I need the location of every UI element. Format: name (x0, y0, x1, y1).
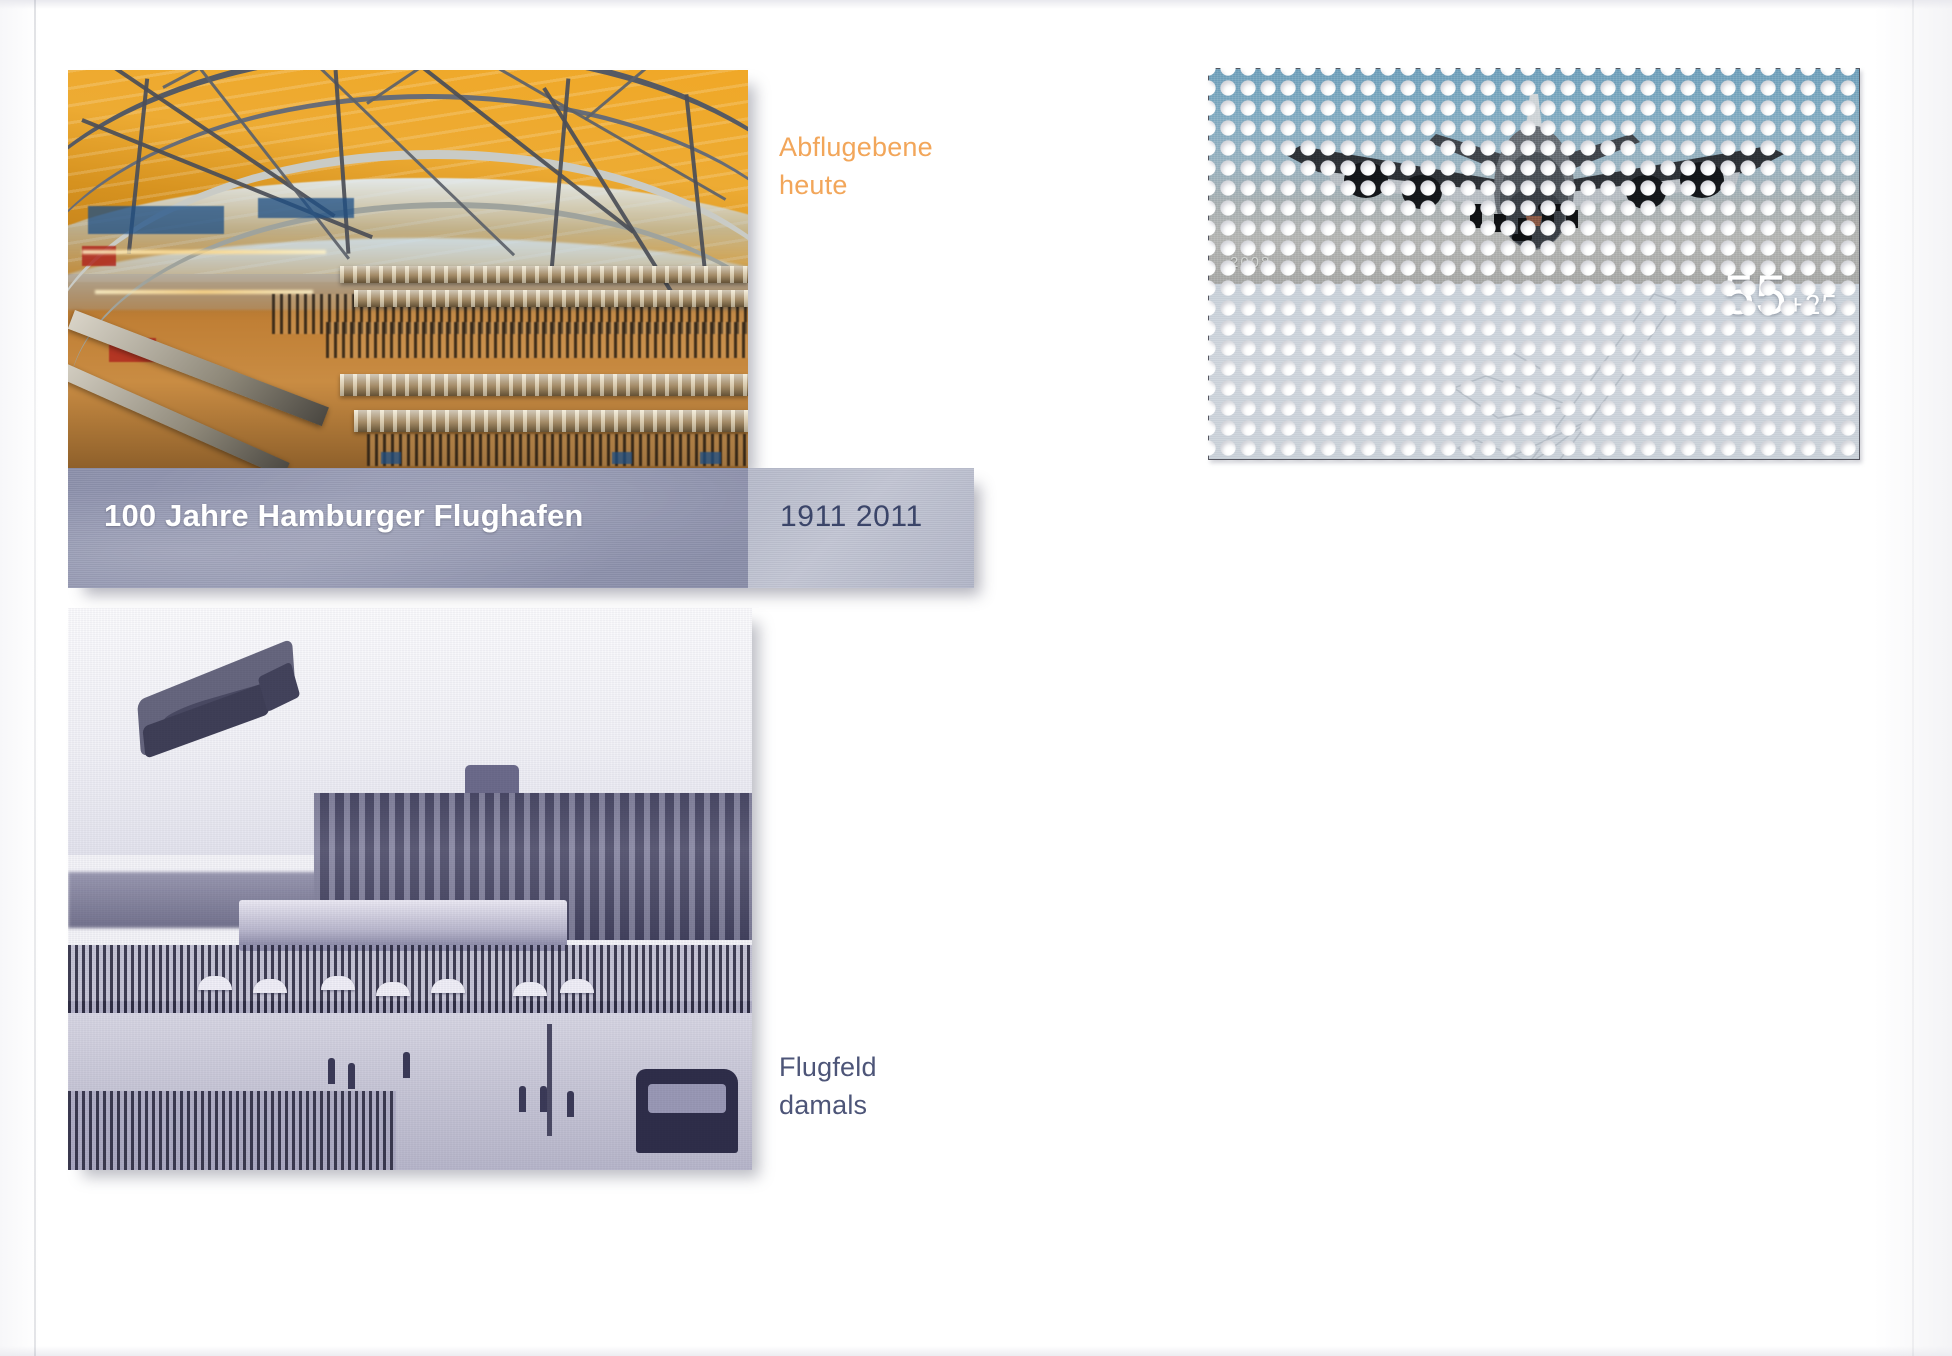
terminal-red-accent (82, 246, 116, 266)
banner-title: 100 Jahre Hamburger Flughafen (104, 494, 584, 538)
terminal-departure-level-photo (68, 70, 748, 470)
page-surface: Abflugebene heute 100 Jahre Hamburger Fl… (0, 0, 1952, 1356)
terminal-monitor-1 (381, 452, 401, 464)
historic-airfield-photo (68, 608, 752, 1170)
checkin-desk-row-1 (340, 266, 748, 283)
terminal-blue-signage-2 (258, 198, 353, 218)
paper-fold-line-left (34, 0, 36, 1356)
terminal-light-strip-1 (82, 250, 327, 254)
stamp-a380-photograph (1208, 68, 1860, 284)
ghost-airplane-line-drawing (1358, 284, 1738, 460)
anniversary-title-banner: 100 Jahre Hamburger Flughafen 1911 2011 (68, 468, 974, 588)
a380-aircraft-illustration (1208, 68, 1860, 284)
checkin-desk-row-2 (354, 290, 748, 307)
scan-bottom-edge (0, 1346, 1952, 1356)
paper-fold-line-right (1912, 0, 1914, 1356)
terminal-crowd-mid (326, 322, 748, 358)
terminal-monitor-3 (700, 452, 720, 464)
stamp-surcharge: +25 (1788, 289, 1839, 320)
stamp-body: Für die Wohlfahrtspflege A380 Deutschlan… (1208, 68, 1860, 460)
stamp-denomination: 55+25 (1723, 262, 1838, 327)
airfield-photo-caption: Flugfeld damals (779, 1048, 877, 1125)
stamp-year-text: 2008 (1230, 254, 1271, 271)
historic-photo-grain (68, 608, 752, 1170)
stamp-face-value: 55 (1723, 263, 1787, 326)
terminal-crowd-lower (367, 434, 748, 466)
checkin-desk-row-3 (340, 374, 748, 396)
historic-scene (68, 608, 752, 1170)
terminal-monitor-2 (612, 452, 632, 464)
banner-years: 1911 2011 (780, 495, 923, 539)
checkin-desk-row-4 (354, 410, 748, 432)
terminal-scene (68, 70, 748, 470)
terminal-blue-signage (88, 206, 224, 234)
german-postage-stamp-a380: Für die Wohlfahrtspflege A380 Deutschlan… (1208, 68, 1860, 460)
scan-top-edge (0, 0, 1952, 9)
terminal-photo-caption: Abflugebene heute (779, 128, 933, 205)
